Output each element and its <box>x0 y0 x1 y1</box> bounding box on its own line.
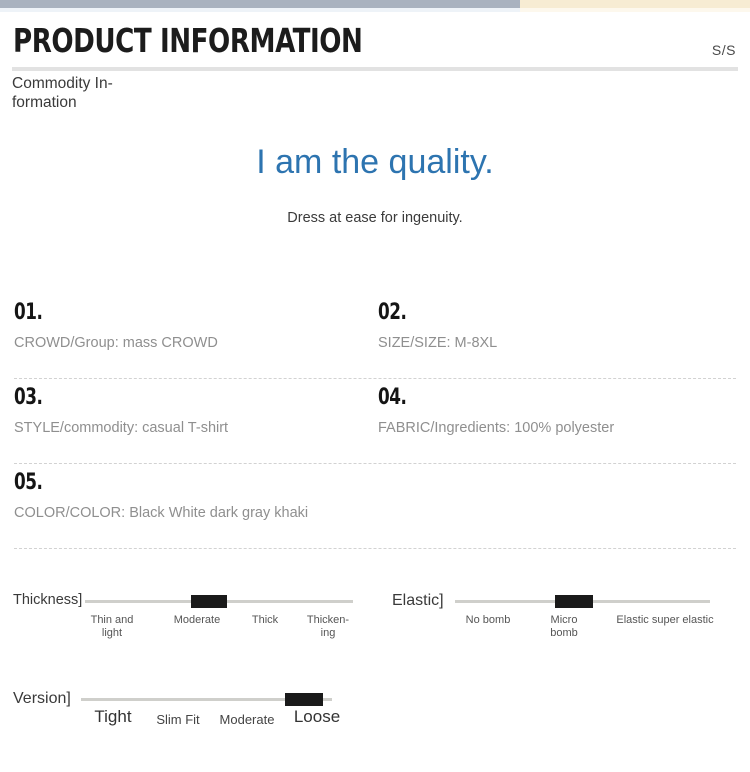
slider-tick: Slim Fit <box>147 713 209 726</box>
top-strip-left-segment <box>0 0 520 8</box>
top-color-strip <box>0 0 750 8</box>
spec-item-01: 01. CROWD/Group: mass CROWD <box>14 300 218 353</box>
slider-tick: Tight <box>83 710 143 723</box>
top-strip-right-segment <box>520 0 750 8</box>
spec-divider <box>14 548 736 549</box>
spec-number: 03. <box>14 385 196 411</box>
spec-text: SIZE/SIZE: M-8XL <box>378 334 497 353</box>
slider-tick: Moderate <box>161 614 233 627</box>
slider-elastic-thumb[interactable] <box>555 595 593 608</box>
spec-item-02: 02. SIZE/SIZE: M-8XL <box>378 300 497 353</box>
spec-row: 05. COLOR/COLOR: Black White dark gray k… <box>0 470 750 555</box>
spec-text: CROWD/Group: mass CROWD <box>14 334 218 353</box>
slider-thickness-label: Thickness] <box>13 592 82 608</box>
slider-tick: No bomb <box>453 614 523 627</box>
spec-item-04: 04. FABRIC/Ingredients: 100% polyester <box>378 385 614 438</box>
hero-headline: I am the quality. <box>0 140 750 184</box>
hero-subline: Dress at ease for ingenuity. <box>0 208 750 228</box>
top-strip-right-shadow <box>520 8 750 12</box>
slider-tick: Thin and light <box>82 614 142 640</box>
hero-section: I am the quality. Dress at ease for inge… <box>0 140 750 228</box>
slider-elastic-ticks: No bomb Micro bomb Elastic super elastic <box>455 614 710 648</box>
spec-row: 03. STYLE/commodity: casual T-shirt 04. … <box>0 385 750 470</box>
spec-number: 05. <box>14 470 264 496</box>
slider-tick: Moderate <box>212 713 282 726</box>
spec-list: 01. CROWD/Group: mass CROWD 02. SIZE/SIZ… <box>0 300 750 555</box>
spec-number: 02. <box>378 300 479 326</box>
header-divider <box>12 67 738 71</box>
slider-thickness-thumb[interactable] <box>191 595 227 608</box>
slider-version-thumb[interactable] <box>285 693 323 706</box>
spec-text: FABRIC/Ingredients: 100% polyester <box>378 419 614 438</box>
hero-headline-period: . <box>484 143 493 181</box>
season-code-label: S/S <box>712 42 736 58</box>
spec-text: COLOR/COLOR: Black White dark gray khaki <box>14 504 308 523</box>
spec-divider <box>14 463 736 464</box>
spec-divider <box>14 378 736 379</box>
spec-row: 01. CROWD/Group: mass CROWD 02. SIZE/SIZ… <box>0 300 750 385</box>
slider-tick: Elastic super elastic <box>605 614 725 627</box>
header-subtitle: Commodity In-formation <box>12 74 152 112</box>
slider-tick: Thicken-ing <box>301 614 355 640</box>
slider-tick: Loose <box>286 710 348 723</box>
page-title: PRODUCT INFORMATION <box>13 20 362 62</box>
slider-version-label: Version] <box>13 690 71 708</box>
spec-text: STYLE/commodity: casual T-shirt <box>14 419 228 438</box>
spec-item-03: 03. STYLE/commodity: casual T-shirt <box>14 385 228 438</box>
top-strip-left-shadow <box>0 8 520 12</box>
slider-version-ticks: Tight Slim Fit Moderate Loose <box>81 712 332 746</box>
slider-tick: Micro bomb <box>539 614 589 640</box>
slider-thickness-ticks: Thin and light Moderate Thick Thicken-in… <box>85 614 353 648</box>
spec-number: 04. <box>378 385 579 411</box>
spec-number: 01. <box>14 300 187 326</box>
hero-headline-text: I am the quality <box>256 143 484 181</box>
spec-item-05: 05. COLOR/COLOR: Black White dark gray k… <box>14 470 308 523</box>
slider-elastic-label: Elastic] <box>392 592 444 610</box>
slider-tick: Thick <box>240 614 290 627</box>
